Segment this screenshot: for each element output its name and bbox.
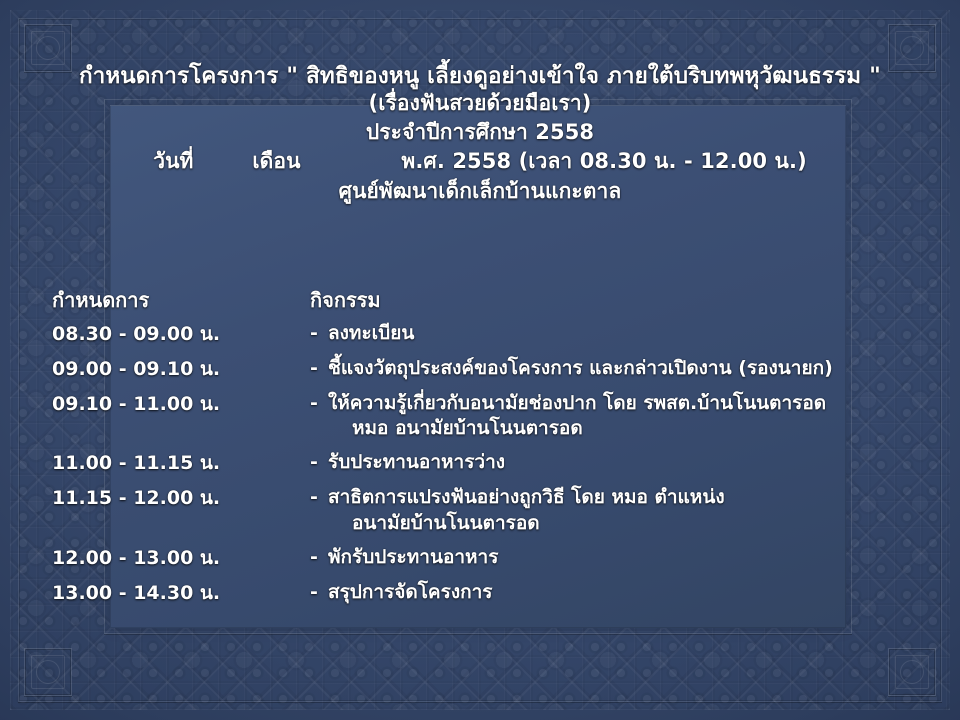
project-title-line: กำหนดการโครงการ " สิทธิของหนู เลี้ยงดูอย… [0, 62, 960, 90]
academic-year-line: ประจำปีการศึกษา 2558 [0, 119, 960, 145]
bullet-dash-icon: - [310, 321, 328, 347]
row-time: 11.00 - 11.15 น. [52, 450, 310, 477]
row-time: 13.00 - 14.30 น. [52, 580, 310, 607]
bullet-dash-icon: - [310, 391, 328, 417]
table-row: 11.15 - 12.00 น. - สาธิตการแปรงฟันอย่างถ… [52, 485, 936, 537]
table-row: 09.10 - 11.00 น. - ให้ความรู้เกี่ยวกับอน… [52, 391, 936, 443]
slide: กำหนดการโครงการ " สิทธิของหนู เลี้ยงดูอย… [0, 0, 960, 720]
date-label: วันที่ [153, 149, 193, 173]
bullet-dash-icon: - [310, 356, 328, 382]
date-line: วันที่ เดือน พ.ศ. 2558 (เวลา 08.30 น. - … [0, 148, 960, 174]
table-row: 08.30 - 09.00 น. - ลงทะเบียน [52, 321, 936, 348]
activity-line: - ลงทะเบียน [310, 321, 936, 347]
activity-line: - ชี้แจงวัตถุประสงค์ของโครงการ และกล่าวเ… [310, 356, 936, 382]
row-activity: - พักรับประทานอาหาร [310, 545, 936, 571]
activity-text: สรุปการจัดโครงการ [328, 580, 493, 606]
table-row: 09.00 - 09.10 น. - ชี้แจงวัตถุประสงค์ของ… [52, 356, 936, 383]
slide-content: กำหนดการโครงการ " สิทธิของหนู เลี้ยงดูอย… [0, 0, 960, 720]
row-time: 09.00 - 09.10 น. [52, 356, 310, 383]
year-and-time-label: พ.ศ. 2558 (เวลา 08.30 น. - 12.00 น.) [401, 149, 806, 173]
activity-text: ชี้แจงวัตถุประสงค์ของโครงการ และกล่าวเปิ… [328, 356, 833, 382]
activity-text: ให้ความรู้เกี่ยวกับอนามัยช่องปาก โดย รพส… [328, 391, 826, 417]
activity-line: - พักรับประทานอาหาร [310, 545, 936, 571]
activity-text: ลงทะเบียน [328, 321, 414, 347]
table-row: 12.00 - 13.00 น. - พักรับประทานอาหาร [52, 545, 936, 572]
activity-line: - รับประทานอาหารว่าง [310, 450, 936, 476]
row-time: 09.10 - 11.00 น. [52, 391, 310, 418]
activity-text-continued: อนามัยบ้านโนนตารอด [328, 511, 936, 537]
row-activity: - ลงทะเบียน [310, 321, 936, 347]
column-header-time: กำหนดการ [52, 288, 310, 312]
title-block: กำหนดการโครงการ " สิทธิของหนู เลี้ยงดูอย… [0, 62, 960, 204]
row-activity: - สาธิตการแปรงฟันอย่างถูกวิธี โดย หมอ ตำ… [310, 485, 936, 537]
row-activity: - สรุปการจัดโครงการ [310, 580, 936, 606]
activity-text: พักรับประทานอาหาร [328, 545, 498, 571]
activity-text-continued: หมอ อนามัยบ้านโนนตารอด [328, 416, 936, 442]
activity-line: - ให้ความรู้เกี่ยวกับอนามัยช่องปาก โดย ร… [310, 391, 936, 417]
activity-line: - สาธิตการแปรงฟันอย่างถูกวิธี โดย หมอ ตำ… [310, 485, 936, 511]
month-label: เดือน [252, 149, 300, 173]
column-header-activity: กิจกรรม [310, 288, 936, 312]
activity-line: - สรุปการจัดโครงการ [310, 580, 936, 606]
row-time: 12.00 - 13.00 น. [52, 545, 310, 572]
activity-text: รับประทานอาหารว่าง [328, 450, 505, 476]
project-subtitle-line: (เรื่องฟันสวยด้วยมือเรา) [0, 90, 960, 116]
bullet-dash-icon: - [310, 450, 328, 476]
bullet-dash-icon: - [310, 485, 328, 511]
table-row: 11.00 - 11.15 น. - รับประทานอาหารว่าง [52, 450, 936, 477]
row-activity: - ชี้แจงวัตถุประสงค์ของโครงการ และกล่าวเ… [310, 356, 936, 382]
row-activity: - รับประทานอาหารว่าง [310, 450, 936, 476]
table-row: 13.00 - 14.30 น. - สรุปการจัดโครงการ [52, 580, 936, 607]
row-time: 08.30 - 09.00 น. [52, 321, 310, 348]
row-time: 11.15 - 12.00 น. [52, 485, 310, 512]
schedule-header-row: กำหนดการ กิจกรรม [52, 288, 936, 312]
activity-text: สาธิตการแปรงฟันอย่างถูกวิธี โดย หมอ ตำแห… [328, 485, 725, 511]
venue-line: ศูนย์พัฒนาเด็กเล็กบ้านแกะตาล [0, 178, 960, 204]
schedule-table: กำหนดการ กิจกรรม 08.30 - 09.00 น. - ลงทะ… [52, 288, 936, 614]
row-activity: - ให้ความรู้เกี่ยวกับอนามัยช่องปาก โดย ร… [310, 391, 936, 443]
bullet-dash-icon: - [310, 545, 328, 571]
bullet-dash-icon: - [310, 580, 328, 606]
